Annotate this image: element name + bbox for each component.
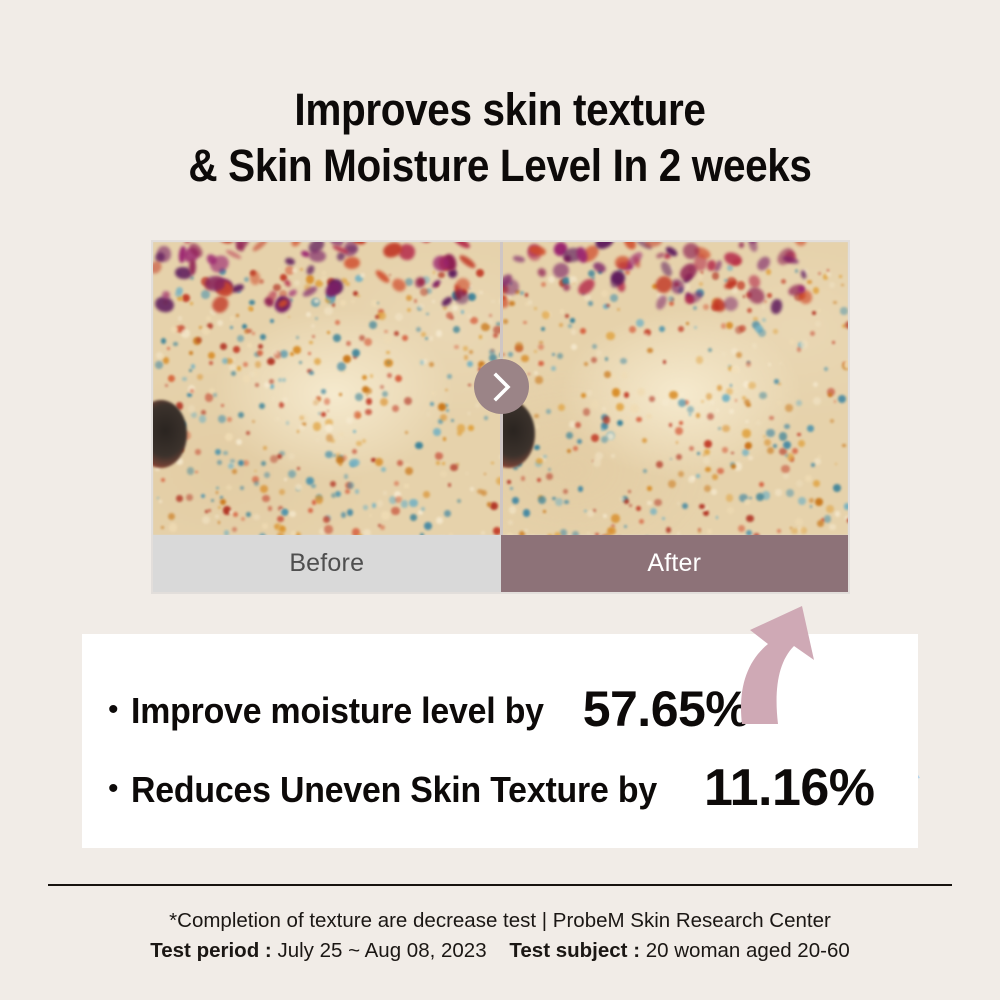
test-period-value-text: July 25 ~ Aug 08, 2023 xyxy=(277,939,486,962)
result-value-moisture: 57.65% xyxy=(583,689,750,729)
comparison-photos xyxy=(153,242,848,535)
title-line-1: Improves skin texture xyxy=(50,82,950,138)
result-item-moisture: • Improve moisture level by 57.65% xyxy=(108,686,749,731)
footer-line-2: Test period : July 25 ~ Aug 08, 2023 Tes… xyxy=(0,936,1000,966)
result-text-texture: Reduces Uneven Skin Texture by xyxy=(131,770,657,810)
chevron-right-icon[interactable] xyxy=(474,359,529,414)
footer-divider xyxy=(48,884,952,886)
footer: *Completion of texture are decrease test… xyxy=(0,906,1000,966)
promo-graphic: Improves skin texture & Skin Moisture Le… xyxy=(0,0,1000,1000)
footer-gap xyxy=(487,939,510,962)
comparison-labels: Before After xyxy=(153,535,848,592)
before-photo xyxy=(153,242,501,535)
bullet-icon: • xyxy=(108,774,119,804)
page-title: Improves skin texture & Skin Moisture Le… xyxy=(0,82,1000,194)
test-period-label: Test period : xyxy=(150,939,272,962)
eyelash-band-after xyxy=(501,242,807,301)
bullet-icon: • xyxy=(108,695,119,725)
results-box: • Improve moisture level by 57.65% • Red… xyxy=(82,634,918,848)
footer-line-1: *Completion of texture are decrease test… xyxy=(0,906,1000,936)
after-label: After xyxy=(501,535,849,592)
before-after-comparison: Before After xyxy=(151,240,850,594)
test-subject-value-text: 20 woman aged 20-60 xyxy=(646,939,850,962)
eyelash-band-before xyxy=(153,242,459,301)
before-label: Before xyxy=(153,535,501,592)
title-line-2: & Skin Moisture Level In 2 weeks xyxy=(50,138,950,194)
result-item-texture: • Reduces Uneven Skin Texture by 11.16% xyxy=(108,765,875,810)
result-text-moisture: Improve moisture level by xyxy=(131,691,544,731)
test-subject-label: Test subject : xyxy=(509,939,640,962)
after-photo xyxy=(501,242,849,535)
result-value-texture: 11.16% xyxy=(704,768,875,808)
